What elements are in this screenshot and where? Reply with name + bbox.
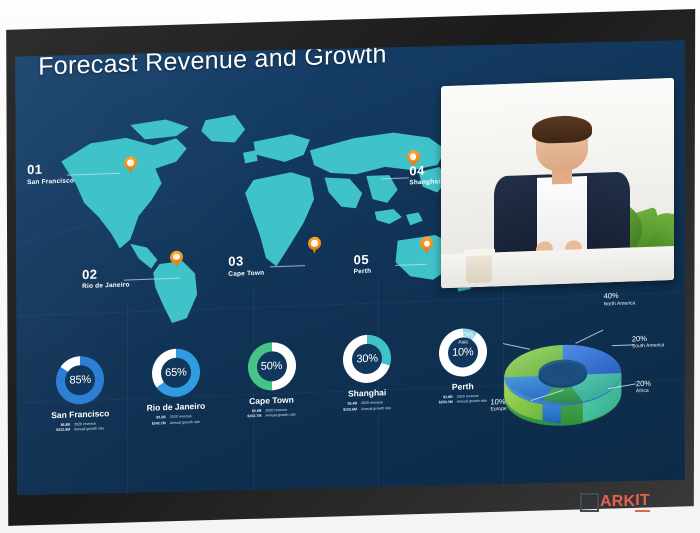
kpi-growth-value: $242.7M <box>152 420 166 426</box>
map-label-city: Cape Town <box>228 269 264 277</box>
region-name: South America <box>632 342 665 350</box>
kpi-percent: 10% <box>452 346 473 359</box>
map-label-number: 03 <box>228 254 264 268</box>
kpi-row: 85% San Francisco $6.8B 2020 revenue $33… <box>47 329 514 481</box>
map-label-city: Shanghai <box>409 178 440 186</box>
map-label-number: 02 <box>82 266 130 281</box>
region-name: North America <box>603 300 635 308</box>
kpi-card-shanghai[interactable]: 30% Shanghai $5.4B 2020 revenue $102.6M … <box>334 334 400 413</box>
map-label-number: 04 <box>409 163 440 177</box>
region-percent: 20% <box>632 334 665 343</box>
kpi-city: Rio de Janeiro <box>143 400 209 412</box>
kpi-percent: 85% <box>69 373 90 386</box>
markit-logo: M ARK IT <box>580 492 650 512</box>
logo-text-ark: ARK <box>600 493 635 511</box>
presenter-avatar <box>496 117 627 263</box>
kpi-growth-label: Annual growth rate <box>361 405 391 411</box>
map-label-cape-town: 03 Cape Town <box>228 254 264 278</box>
logo-text-it: IT <box>635 492 650 512</box>
video-call-panel[interactable] <box>441 77 674 288</box>
region-percent: 40% <box>603 291 635 300</box>
kpi-percent: 50% <box>261 359 282 372</box>
kpi-percent: 65% <box>165 366 186 379</box>
monitor-screen: Forecast Revenue and Growth <box>15 40 685 495</box>
map-label-perth: 05 Perth <box>353 252 371 275</box>
region-percent: 30% <box>458 330 473 338</box>
logo-mark-m: M <box>580 493 599 512</box>
map-label-rio-de-janeiro: 02 Rio de Janeiro <box>82 266 130 290</box>
region-label-asia: 30% Asia <box>458 330 473 346</box>
kpi-growth-value: $102.6M <box>343 407 357 413</box>
world-map <box>30 101 490 330</box>
cup-lid <box>464 248 495 257</box>
map-label-number: 01 <box>27 161 74 176</box>
map-pin-perth[interactable] <box>420 236 433 253</box>
progress-ring: 65% <box>152 348 200 398</box>
kpi-stats: $5.4B 2020 revenue $102.6M Annual growth… <box>334 400 400 413</box>
kpi-percent: 30% <box>356 353 377 366</box>
coffee-cup <box>466 248 492 283</box>
map-label-city: Perth <box>353 268 371 276</box>
region-donut-chart[interactable]: 40% North America 20% South America 20% … <box>482 301 684 453</box>
kpi-growth-value: $332.9M <box>56 427 70 433</box>
kpi-card-cape-town[interactable]: 50% Cape Town $2.6B 2020 revenue $152.7M… <box>238 341 304 420</box>
map-label-shanghai: 04 Shanghai <box>409 163 440 187</box>
kpi-city: Cape Town <box>238 394 304 406</box>
progress-ring: 30% <box>343 334 391 384</box>
map-pin-rio-de-janeiro[interactable] <box>170 250 183 267</box>
region-name: Africa <box>636 388 651 395</box>
ring-center: 30% <box>352 343 382 374</box>
map-pin-san-francisco[interactable] <box>124 156 137 173</box>
kpi-stats: $6.8B 2020 revenue $332.9M Annual growth… <box>47 420 113 433</box>
pin-dot <box>173 253 179 260</box>
region-label-north-america: 40% North America <box>603 291 635 307</box>
pin-dot <box>410 153 416 160</box>
map-label-city: Rio de Janeiro <box>82 281 130 290</box>
progress-ring: 50% <box>247 341 295 391</box>
kpi-growth-value: $254.3M <box>439 400 453 406</box>
region-label-south-america: 20% South America <box>632 334 665 350</box>
region-percent: 20% <box>636 379 651 387</box>
map-label-san-francisco: 01 San Francisco <box>27 161 74 185</box>
region-percent: 10% <box>490 397 506 405</box>
pin-dot <box>424 240 430 247</box>
map-label-number: 05 <box>353 252 371 266</box>
kpi-city: San Francisco <box>47 407 113 419</box>
leader-line <box>612 343 634 345</box>
display-monitor: Forecast Revenue and Growth <box>2 8 698 528</box>
ring-center: 65% <box>161 357 191 388</box>
kpi-stats: $3.2B 2020 revenue $242.7M Annual growth… <box>143 413 209 426</box>
ring-center: 85% <box>65 364 95 395</box>
progress-ring: 85% <box>56 354 104 404</box>
kpi-growth-label: Annual growth rate <box>170 419 200 425</box>
region-name: Asia <box>458 339 473 346</box>
map-pin-cape-town[interactable] <box>308 236 321 253</box>
pin-dot <box>127 159 133 166</box>
kpi-city: Shanghai <box>334 387 400 399</box>
ring-center: 50% <box>256 350 286 381</box>
kpi-growth-label: Annual growth rate <box>265 412 295 418</box>
presentation-slide: Forecast Revenue and Growth <box>15 40 685 495</box>
region-name: Europe <box>490 406 506 413</box>
kpi-growth-value: $152.7M <box>247 413 261 419</box>
kpi-growth-label: Annual growth rate <box>74 426 104 432</box>
region-label-africa: 20% Africa <box>636 379 651 395</box>
kpi-stats: $2.6B 2020 revenue $152.7M Annual growth… <box>238 407 304 420</box>
region-label-europe: 10% Europe <box>490 397 506 413</box>
kpi-card-rio-de-janeiro[interactable]: 65% Rio de Janeiro $3.2B 2020 revenue $2… <box>143 347 209 426</box>
kpi-card-san-francisco[interactable]: 85% San Francisco $6.8B 2020 revenue $33… <box>47 354 113 433</box>
page-background: Forecast Revenue and Growth <box>0 0 700 533</box>
map-label-city: San Francisco <box>27 177 74 186</box>
pin-dot <box>311 240 317 247</box>
